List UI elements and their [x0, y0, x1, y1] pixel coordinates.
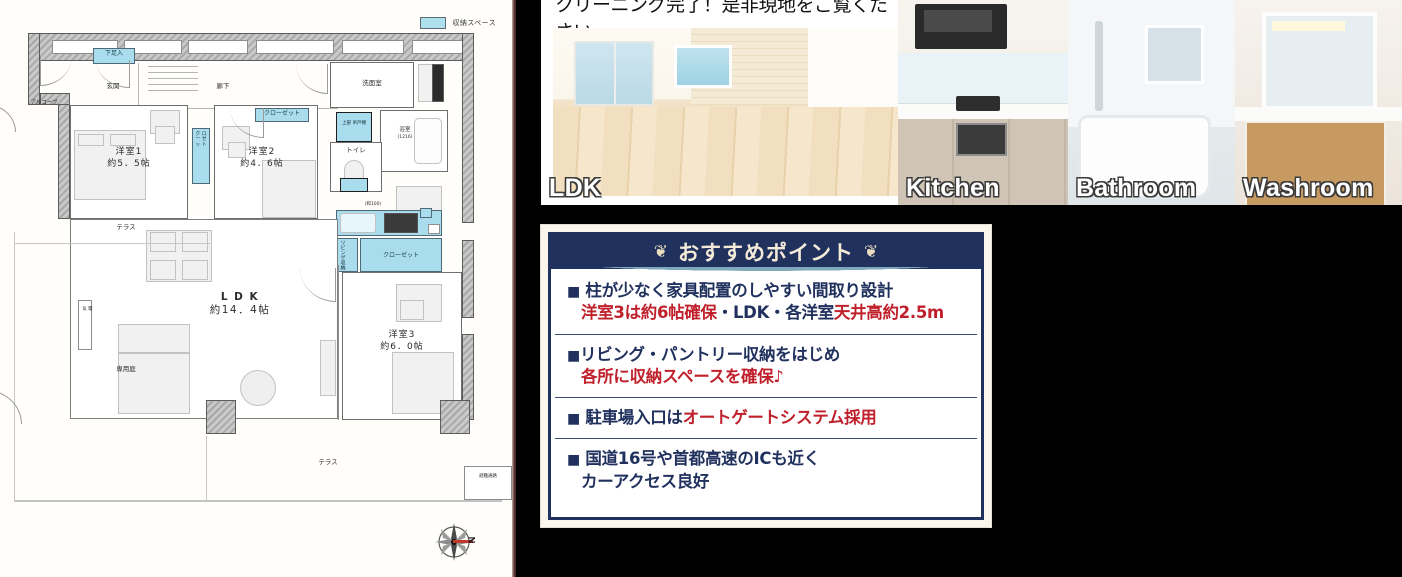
- wall-bottom-left-pier: [206, 400, 236, 434]
- photo-caption-ldk: LDK: [549, 174, 601, 203]
- bullet-icon-1: ■: [567, 284, 580, 300]
- label-terrace-top: テラス: [86, 223, 166, 231]
- label-bedroom-3: 洋室3: [342, 330, 462, 341]
- recommend-item-1-line2-c: 天井高約2.5m: [834, 303, 944, 322]
- label-corridor: 廊下: [188, 82, 258, 90]
- kitchen-sink: [340, 213, 376, 233]
- label-closet-bedroom-1: ク ロ ー ゼ ッ ト: [193, 132, 209, 148]
- recommend-item-1-line1: ■ 柱が少なく家具配置のしやすい間取り設計: [567, 280, 967, 302]
- kitchen-stove: [384, 213, 418, 233]
- chair-1: [155, 126, 175, 144]
- wall-right-upper: [462, 33, 474, 223]
- recommend-item-1-line2-b: ・LDK・各洋室: [717, 303, 834, 322]
- ldk-window: [674, 45, 732, 88]
- hatch-line-3: [148, 78, 198, 79]
- storage-legend-swatch: [420, 17, 446, 29]
- pillow-1a: [78, 134, 104, 146]
- pillow-1b: [110, 134, 136, 146]
- laurel-right-icon: ❦: [864, 242, 878, 262]
- storage-legend: 収納スペース: [420, 17, 496, 29]
- cabinet-hall: [320, 340, 336, 396]
- label-living-storage: リビング収納: [339, 240, 345, 270]
- wall-right-mid: [462, 240, 474, 318]
- recommend-item-3-line1-navy: 駐車場入口は: [585, 408, 682, 427]
- hatch-line-2: [148, 72, 198, 73]
- bullet-icon-2: ■: [567, 348, 580, 364]
- corridor-edge: [138, 63, 139, 108]
- recommend-box: ❦ おすすめポイント ❦ ■ 柱が少なく家具配置のしやすい間取り設計 洋室3は約…: [548, 232, 984, 520]
- label-bedroom-2: 洋室2: [210, 147, 314, 158]
- dining-chair-3: [150, 260, 176, 280]
- photo-ldk[interactable]: クリーニング完了！是非現地をご覧ください LDK: [541, 0, 898, 205]
- label-ceiling-note: (和100): [350, 202, 396, 208]
- washer-dark: [432, 64, 444, 102]
- recommend-item-2: ■リビング・パントリー収納をはじめ 各所に収納スペースを確保♪: [555, 334, 977, 398]
- bathroom-mirror: [1145, 25, 1204, 84]
- door-arc-washroom: [296, 64, 328, 94]
- recommend-item-2-line2: 各所に収納スペースを確保♪: [567, 366, 967, 388]
- recommend-item-4-line2-text: カーアクセス良好: [581, 472, 709, 491]
- photo-strip: クリーニング完了！是非現地をご覧ください LDK: [541, 0, 1402, 205]
- kitchen-range-hood: [915, 4, 1007, 49]
- bullet-icon-4: ■: [567, 452, 580, 468]
- bullet-icon-3: ■: [567, 411, 580, 427]
- label-private-garden: 専用庭: [86, 365, 166, 373]
- recommend-item-4-line2: カーアクセス良好: [567, 471, 967, 493]
- bathtub: [414, 118, 442, 164]
- recommend-item-4: ■ 国道16号や首都高速のICも近く カーアクセス良好: [555, 438, 977, 502]
- ldk-scene-art: [553, 28, 898, 196]
- label-bedroom-1: 洋室1: [70, 147, 188, 158]
- photo-washroom[interactable]: Washroom: [1235, 0, 1402, 205]
- hatch-line-4: [148, 84, 198, 85]
- recommend-item-4-line1: ■ 国道16号や首都高速のICも近く: [567, 448, 967, 470]
- floorplan-drawing: 収納スペース アルコーブ 下足入 玄関: [0, 0, 512, 577]
- sofa-divider: [118, 352, 190, 354]
- recommend-item-1-line2-a: 洋室3は約6帖確保: [581, 303, 717, 322]
- dining-chair-2: [182, 232, 208, 252]
- window-top-3: [188, 40, 248, 54]
- label-bedroom-2-size: 約4．6帖: [210, 159, 314, 170]
- recommend-list: ■ 柱が少なく家具配置のしやすい間取り設計 洋室3は約6帖確保・LDK・各洋室天…: [551, 269, 981, 502]
- label-ldk-size: 約14．4帖: [150, 304, 330, 317]
- photo-kitchen[interactable]: Kitchen: [898, 0, 1068, 205]
- ldk-divider: [338, 265, 339, 420]
- label-meter: 電 気: [81, 306, 92, 311]
- label-ps: [428, 224, 440, 234]
- overhead-cabinet-2: [340, 178, 368, 192]
- kitchen-upper: [420, 208, 432, 218]
- screenshot-root: 収納スペース アルコーブ 下足入 玄関: [0, 0, 1402, 577]
- terrace-divider: [206, 436, 207, 502]
- photo-caption-kitchen: Kitchen: [906, 174, 1000, 203]
- kitchen-oven: [956, 123, 1008, 156]
- label-shoe-cabinet: 下足入: [93, 51, 135, 58]
- photo-caption-bathroom: Bathroom: [1076, 174, 1196, 203]
- ldk-sliding-door: [574, 41, 654, 105]
- ldk-floor: [553, 107, 898, 196]
- compass-north-label: N: [466, 537, 476, 544]
- label-overhead-cabinet-1: 上部 吊戸棚: [336, 122, 372, 127]
- washroom-counter: [1235, 107, 1402, 121]
- recommend-item-3: ■ 駐車場入口はオートゲートシステム採用: [555, 397, 977, 438]
- washroom-light: [1272, 21, 1345, 31]
- door-arc-entrance: [40, 56, 72, 86]
- photo-bathroom[interactable]: Bathroom: [1068, 0, 1235, 205]
- wall-bottom-right-pier: [440, 400, 470, 434]
- recommend-title-text: おすすめポイント: [678, 237, 854, 267]
- escape-route-box: [464, 466, 512, 500]
- photo-ldk-image: [553, 28, 898, 196]
- recommend-item-2-line1: ■リビング・パントリー収納をはじめ: [567, 344, 967, 366]
- window-top-4: [256, 40, 334, 54]
- photo-caption-washroom: Washroom: [1243, 174, 1374, 203]
- terrace-top-edge: [14, 243, 210, 244]
- laurel-left-icon: ❦: [654, 242, 668, 262]
- recommend-panel: ❦ おすすめポイント ❦ ■ 柱が少なく家具配置のしやすい間取り設計 洋室3は約…: [541, 225, 991, 527]
- window-top-5: [342, 40, 404, 54]
- recommend-item-2-line1-text: リビング・パントリー収納をはじめ: [580, 345, 840, 364]
- chair-3: [400, 300, 424, 320]
- label-toilet: トイレ: [330, 146, 382, 154]
- recommend-item-1-line1-text: 柱が少なく家具配置のしやすい間取り設計: [585, 281, 893, 300]
- label-washroom: 洗面室: [330, 79, 414, 87]
- hatch-line-5: [148, 90, 198, 91]
- label-escape-route: 避難通路: [464, 474, 512, 480]
- kitchen-cooktop: [956, 96, 1000, 110]
- label-bedroom-1-size: 約5．5帖: [70, 159, 188, 170]
- garden-left-edge: [14, 232, 15, 500]
- compass-rose: N: [432, 520, 476, 564]
- site-bottom-edge: [14, 500, 502, 502]
- bathroom-shower: [1095, 21, 1103, 111]
- recommend-item-4-line1-text: 国道16号や首都高速のICも近く: [585, 449, 819, 468]
- label-closet-ldk: クローゼット: [360, 253, 442, 260]
- recommend-title-bar: ❦ おすすめポイント ❦: [551, 235, 981, 269]
- recommend-item-3-line1: ■ 駐車場入口はオートゲートシステム採用: [567, 407, 967, 429]
- label-terrace-bottom: テラス: [288, 458, 368, 466]
- recommend-item-1-line2: 洋室3は約6帖確保・LDK・各洋室天井高約2.5m: [567, 302, 967, 324]
- dining-chair-4: [182, 260, 208, 280]
- wall-left-upper: [28, 33, 40, 105]
- storage-legend-label: 収納スペース: [452, 18, 496, 28]
- wall-left-mid: [58, 99, 70, 219]
- round-rug: [240, 370, 276, 406]
- window-top-6: [412, 40, 468, 54]
- overhead-cabinet-1: [336, 112, 372, 142]
- floorplan-panel: 収納スペース アルコーブ 下足入 玄関: [0, 0, 512, 577]
- floorplan-right-edge: [512, 0, 516, 577]
- door-arc-garden: [0, 390, 22, 424]
- label-bedroom-3-size: 約6．0帖: [342, 342, 462, 353]
- dining-chair-1: [150, 232, 176, 252]
- label-ldk: L D K: [150, 291, 330, 304]
- recommend-item-2-line2-a: 各所に収納スペースを確保♪: [581, 367, 784, 386]
- hatch-line-1: [148, 66, 198, 67]
- ldk-right-wall: [808, 28, 898, 115]
- recommend-item-3-line1-red: オートゲートシステム採用: [683, 408, 877, 427]
- label-alcove: アルコーブ: [16, 100, 72, 107]
- door-arc-alcove: [0, 104, 16, 132]
- recommend-item-1: ■ 柱が少なく家具配置のしやすい間取り設計 洋室3は約6帖確保・LDK・各洋室天…: [555, 269, 977, 334]
